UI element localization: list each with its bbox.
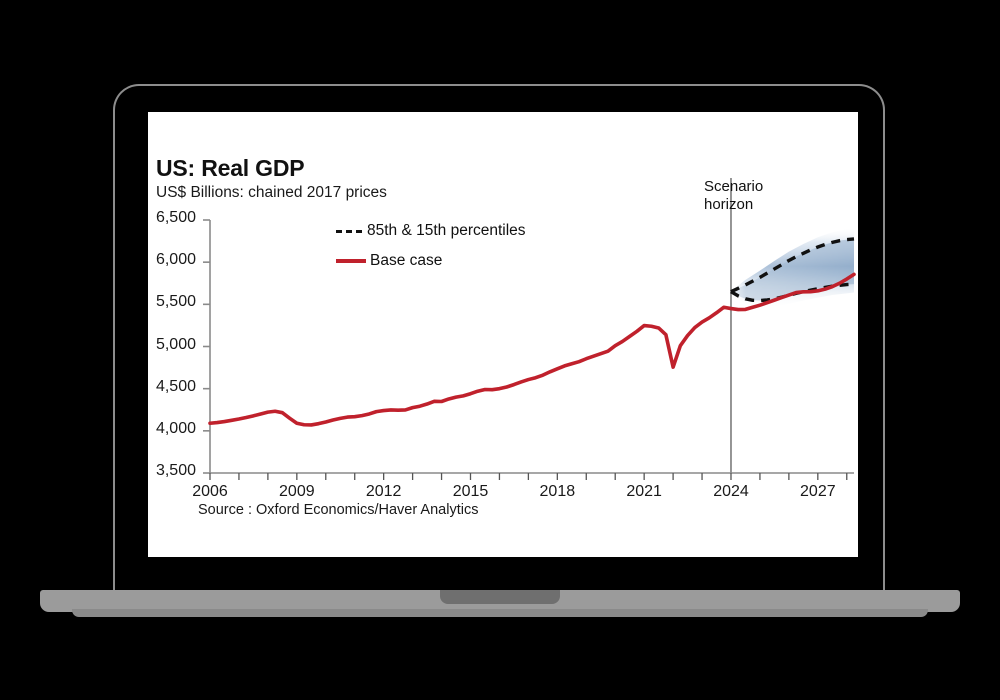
x-tick-label: 2018 [527, 483, 587, 501]
laptop-mockup: US: Real GDP US$ Billions: chained 2017 … [0, 0, 1000, 700]
chart-source-note: Source : Oxford Economics/Haver Analytic… [198, 502, 478, 518]
scenario-horizon-annotation: Scenario horizon [704, 178, 763, 213]
y-tick-label: 3,500 [148, 462, 196, 480]
y-tick-label: 5,000 [148, 336, 196, 354]
x-tick-label: 2012 [354, 483, 414, 501]
x-tick-label: 2024 [701, 483, 761, 501]
x-tick-label: 2021 [614, 483, 674, 501]
y-tick-label: 4,500 [148, 378, 196, 396]
x-tick-label: 2015 [440, 483, 500, 501]
laptop-base-lip [72, 609, 928, 617]
x-tick-label: 2006 [180, 483, 240, 501]
legend-item-percentiles: 85th & 15th percentiles [336, 222, 526, 240]
y-tick-label: 6,500 [148, 209, 196, 227]
fan-uncertainty-band [731, 170, 854, 483]
scenario-horizon-line2: horizon [704, 196, 763, 214]
scenario-horizon-line1: Scenario [704, 178, 763, 196]
legend-label-base-case: Base case [370, 252, 442, 270]
y-tick-label: 6,000 [148, 251, 196, 269]
x-tick-label: 2009 [267, 483, 327, 501]
y-tick-label: 4,000 [148, 420, 196, 438]
y-tick-label: 5,500 [148, 293, 196, 311]
laptop-screen: US: Real GDP US$ Billions: chained 2017 … [148, 112, 858, 557]
x-tick-label: 2027 [788, 483, 848, 501]
chart-subtitle: US$ Billions: chained 2017 prices [156, 184, 387, 202]
legend-label-percentiles: 85th & 15th percentiles [367, 222, 526, 240]
legend-swatch-solid-icon [336, 259, 366, 263]
laptop-trackpad-notch [440, 590, 560, 604]
legend-item-base-case: Base case [336, 252, 442, 270]
chart-title: US: Real GDP [156, 155, 304, 182]
legend-swatch-dashed-icon [336, 230, 362, 233]
